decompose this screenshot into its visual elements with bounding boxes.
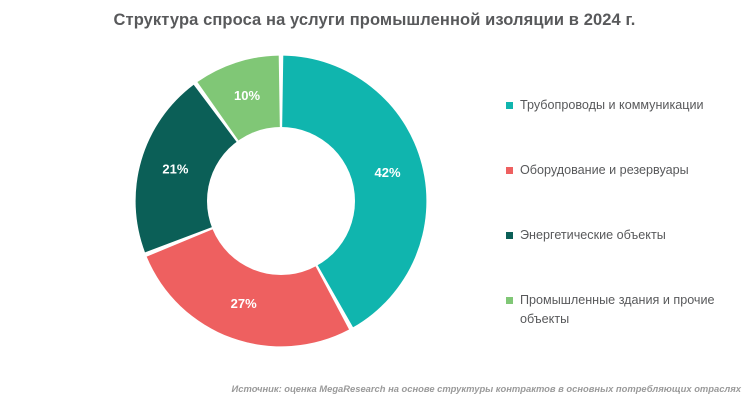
legend-swatch-icon [506,232,513,239]
legend-item-label: Энергетические объекты [520,226,666,245]
legend-swatch-icon [506,297,513,304]
donut-hole [207,127,355,275]
legend-item-buildings[interactable]: Промышленные здания и прочие объекты [506,291,736,356]
source-note: Источник: оценка MegaResearch на основе … [0,382,749,395]
donut-plot-area: 42% 27% 21% 10% [135,55,427,347]
legend-swatch-icon [506,102,513,109]
legend-swatch-icon [506,167,513,174]
legend-item-label: Трубопроводы и коммуникации [520,96,704,115]
legend-item-label: Промышленные здания и прочие объекты [520,291,716,329]
slice-label-equipment: 27% [231,296,257,311]
legend-item-equipment[interactable]: Оборудование и резервуары [506,161,736,226]
chart-legend: Трубопроводы и коммуникации Оборудование… [506,96,736,356]
donut-svg: 42% 27% 21% 10% [135,55,427,347]
slice-label-buildings: 10% [234,88,260,103]
legend-item-energy[interactable]: Энергетические объекты [506,226,736,291]
slice-label-energy: 21% [162,162,188,177]
donut-chart-figure: Структура спроса на услуги промышленной … [0,0,749,402]
legend-item-label: Оборудование и резервуары [520,161,689,180]
slice-label-pipelines: 42% [374,165,400,180]
legend-item-pipelines[interactable]: Трубопроводы и коммуникации [506,96,736,161]
chart-title: Структура спроса на услуги промышленной … [0,9,749,31]
